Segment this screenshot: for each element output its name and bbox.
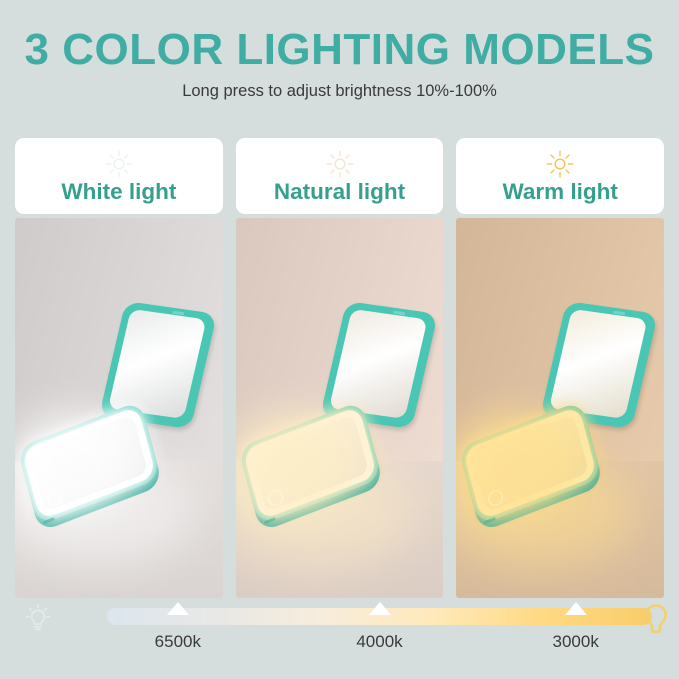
lightbulb-icon: [22, 603, 54, 635]
product-photo-row: [15, 218, 664, 598]
product-photo-white: [15, 218, 223, 598]
product-photo-warm: [456, 218, 664, 598]
product-photo-natural: [236, 218, 444, 598]
sun-icon: [545, 149, 575, 179]
scale-tick-label: 4000k: [356, 632, 402, 652]
mirror-base: [458, 400, 602, 525]
scale-pointer: [369, 602, 391, 615]
mode-card-label: White light: [61, 180, 176, 205]
compact-mirror-device: [236, 218, 444, 598]
mode-card-natural[interactable]: Natural light: [236, 138, 444, 214]
sun-icon: [104, 149, 134, 179]
scale-tick-row: 6500k 4000k 3000k: [0, 632, 679, 656]
gradient-bar[interactable]: [107, 608, 652, 625]
mode-label-row: White light Natural light: [15, 138, 664, 214]
mode-card-label: Natural light: [274, 180, 405, 205]
mirror-base: [17, 400, 161, 525]
mode-card-warm[interactable]: Warm light: [456, 138, 664, 214]
scale-pointer: [565, 602, 587, 615]
product-feature-graphic: 3 COLOR LIGHTING MODELS Long press to ad…: [0, 0, 679, 679]
page-subtitle: Long press to adjust brightness 10%-100%: [0, 82, 679, 101]
sun-icon: [325, 149, 355, 179]
page-title: 3 COLOR LIGHTING MODELS: [0, 28, 679, 72]
compact-mirror-device: [456, 218, 664, 598]
scale-tick-label: 3000k: [553, 632, 599, 652]
mode-card-label: Warm light: [502, 180, 617, 205]
scale-pointer: [167, 602, 189, 615]
scale-tick-label: 6500k: [155, 632, 201, 652]
compact-mirror-device: [15, 218, 223, 598]
mode-card-white[interactable]: White light: [15, 138, 223, 214]
mirror-base: [238, 400, 382, 525]
